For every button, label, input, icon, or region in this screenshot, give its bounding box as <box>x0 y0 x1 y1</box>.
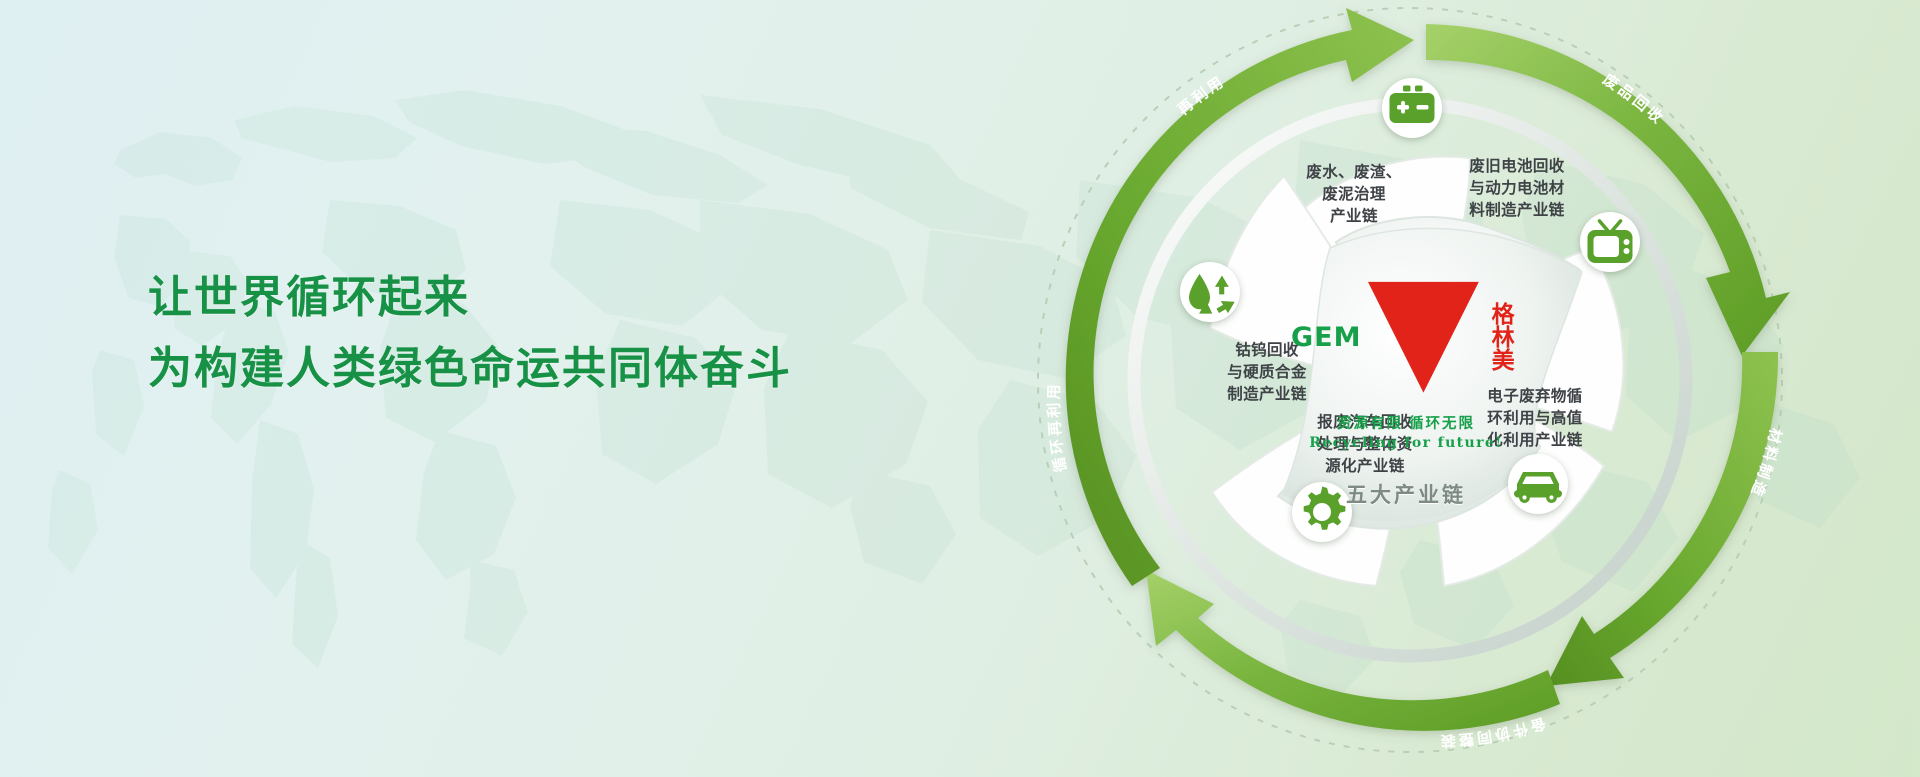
gem-logo-cn: 格林美 <box>1486 303 1521 372</box>
five-industry-chain-diagram: 废品回收 材料制造 备件协同整装 循环再利用 再利用 <box>1000 0 1820 777</box>
center-title: 五大产业链 <box>1291 479 1521 509</box>
gem-logo-latin: GEM <box>1291 324 1361 351</box>
segment-label-battery[interactable]: 废旧电池回收 与动力电池材 料制造产业链 <box>1450 156 1584 222</box>
gem-slogan-en: Recycling for future! <box>1291 435 1521 451</box>
gem-logo: GEM 格林美 <box>1291 268 1521 407</box>
page-headline: 让世界循环起来 为构建人类绿色命运共同体奋斗 <box>148 262 792 405</box>
television-badge[interactable] <box>1580 212 1640 272</box>
water-recycle-icon <box>1180 262 1240 322</box>
gem-slogan-cn: 资源有限 循环无限 <box>1291 412 1521 433</box>
battery-badge[interactable] <box>1382 78 1442 138</box>
headline-line-2: 为构建人类绿色命运共同体奋斗 <box>148 333 792 404</box>
center-logo-lockup: GEM 格林美 资源有限 循环无限 Recycling for future! … <box>1291 268 1521 509</box>
gem-triangle-icon <box>1368 268 1479 407</box>
segment-label-wastewater[interactable]: 废水、废渣、 废泥治理 产业链 <box>1288 162 1420 228</box>
battery-icon <box>1382 78 1442 138</box>
television-icon <box>1580 212 1640 272</box>
water-recycle-badge[interactable] <box>1180 262 1240 322</box>
headline-line-1: 让世界循环起来 <box>148 262 792 333</box>
